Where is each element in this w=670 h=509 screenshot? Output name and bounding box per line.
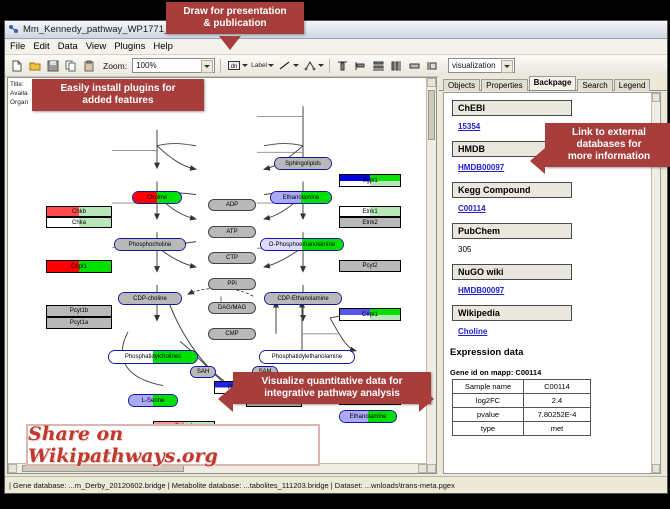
callout-visualize-line2: integrative pathway analysis bbox=[239, 388, 425, 400]
callout-plugins: Easily install plugins for added feature… bbox=[32, 79, 204, 111]
node-label: Phosphocholine bbox=[129, 242, 172, 248]
node-etnk2[interactable]: Etnk2 bbox=[339, 217, 401, 228]
node-sphingolipids[interactable]: Sphingolipids bbox=[274, 157, 332, 170]
chebi-link[interactable]: 15354 bbox=[458, 122, 480, 131]
row-value: 7.80252E-4 bbox=[524, 408, 591, 422]
distribute-vertical-icon[interactable] bbox=[371, 58, 386, 73]
line-icon[interactable] bbox=[277, 58, 292, 73]
node-label: CMP bbox=[225, 331, 238, 337]
status-bar: | Gene database: ...m_Derby_20120602.bri… bbox=[5, 476, 667, 493]
tab-properties[interactable]: Properties bbox=[481, 79, 527, 91]
node-label: DAG/MAG bbox=[218, 305, 246, 311]
callout-visualize-line1: Visualize quantitative data for bbox=[239, 376, 425, 388]
callout-draw-line1: Draw for presentation bbox=[172, 6, 298, 18]
zoom-label: Zoom: bbox=[103, 61, 127, 71]
datanode-icon[interactable]: dn bbox=[226, 58, 241, 73]
shape-tool[interactable] bbox=[302, 58, 324, 73]
node-choline-top[interactable]: Choline bbox=[132, 191, 182, 204]
callout-plugins-arrow bbox=[84, 77, 106, 78]
pathway-info-labels: Title: Availa Organ bbox=[10, 80, 28, 107]
node-label: SAH bbox=[197, 369, 209, 375]
zoom-value: 100% bbox=[136, 61, 156, 70]
node-etnk1[interactable]: Etnk1 bbox=[339, 206, 401, 217]
status-text: | Gene database: ...m_Derby_20120602.bri… bbox=[9, 481, 455, 490]
align-left-icon[interactable] bbox=[353, 58, 368, 73]
node-label: Etnk2 bbox=[362, 220, 377, 226]
callout-visualize-arrow-left bbox=[218, 386, 233, 412]
node-label: Choline bbox=[147, 195, 167, 201]
visualization-value: visualization bbox=[452, 61, 496, 70]
node-label: ADP bbox=[226, 202, 238, 208]
node-label: Etnk1 bbox=[362, 209, 377, 215]
callout-draw-line2: & publication bbox=[172, 18, 298, 30]
row-key: log2FC bbox=[453, 394, 524, 408]
node-label: Pcyt1b bbox=[70, 308, 88, 314]
node-ethanolamine-right[interactable]: Ethanolamine bbox=[339, 410, 397, 423]
section-heading: ChEBI bbox=[452, 100, 572, 116]
section-kegg-compound: Kegg Compound C00114 bbox=[452, 182, 660, 216]
node-adp[interactable]: ADP bbox=[208, 199, 256, 211]
same-width-icon[interactable] bbox=[407, 58, 422, 73]
node-label: O-Phosphoethanolamine bbox=[269, 242, 335, 248]
canvas-vertical-scrollbar[interactable] bbox=[426, 78, 436, 473]
menu-item-data[interactable]: Data bbox=[58, 41, 78, 52]
node-label: PPi bbox=[227, 281, 236, 287]
node-label: Phosphatidylethanolamine bbox=[272, 354, 342, 360]
row-value: C00114 bbox=[524, 380, 591, 394]
svg-text:dn: dn bbox=[230, 64, 237, 70]
menu-bar: File Edit Data View Plugins Help bbox=[5, 39, 667, 55]
node-cdp-choline[interactable]: CDP-choline bbox=[118, 292, 182, 305]
copy-icon[interactable] bbox=[63, 58, 78, 73]
paste-icon[interactable] bbox=[81, 58, 96, 73]
node-pcyt2[interactable]: Pcyt2 bbox=[339, 260, 401, 272]
node-label: CDP-Ethanolamine bbox=[277, 296, 328, 302]
node-ctp[interactable]: CTP bbox=[208, 252, 256, 264]
node-label: Ethanolamine bbox=[283, 195, 320, 201]
align-top-icon[interactable] bbox=[335, 58, 350, 73]
table-row: log2FC 2.4 bbox=[453, 394, 591, 408]
node-label: L-Serine bbox=[142, 398, 165, 404]
section-heading: Kegg Compound bbox=[452, 182, 572, 198]
node-label: CTP bbox=[226, 255, 238, 261]
node-phosphatidylcholines[interactable]: Phosphatidylcholines bbox=[108, 350, 198, 364]
node-chpt1[interactable]: Chpt1 bbox=[46, 260, 112, 273]
node-label: Chpt1 bbox=[71, 264, 87, 270]
section-heading: Wikipedia bbox=[452, 305, 572, 321]
tab-search[interactable]: Search bbox=[577, 79, 612, 91]
side-panel-tabs: Objects Properties Backpage Search Legen… bbox=[439, 75, 667, 91]
visualization-combobox[interactable]: visualization bbox=[448, 58, 515, 73]
callout-share: Share on Wikipathways.org bbox=[26, 424, 320, 466]
scroll-down-arrow[interactable] bbox=[427, 464, 436, 473]
table-row: pvalue 7.80252E-4 bbox=[453, 408, 591, 422]
menu-item-help[interactable]: Help bbox=[153, 41, 173, 52]
line-tool[interactable] bbox=[277, 58, 299, 73]
node-label: Chkb bbox=[72, 209, 86, 215]
menu-item-file[interactable]: File bbox=[10, 41, 25, 52]
section-nugo-wiki: NuGO wiki HMDB00097 bbox=[452, 264, 660, 298]
node-label: Sphingolipids bbox=[285, 161, 321, 167]
node-label: Pcyt1a bbox=[70, 320, 88, 326]
hmdb-link[interactable]: HMDB00097 bbox=[458, 163, 504, 172]
pubchem-value: 305 bbox=[458, 245, 471, 254]
node-label: Pcyt2 bbox=[362, 263, 377, 269]
info-organism-label: Organ bbox=[10, 98, 28, 107]
node-label: Sgpl1 bbox=[362, 178, 377, 184]
node-label: Ethanolamine bbox=[350, 414, 387, 420]
info-availability-label: Availa bbox=[10, 89, 28, 98]
callout-links-line2: databases for bbox=[551, 139, 667, 151]
row-value: met bbox=[524, 422, 591, 436]
toolbar-separator bbox=[220, 59, 221, 73]
table-row: type met bbox=[453, 422, 591, 436]
node-chka[interactable]: Chka bbox=[46, 217, 112, 228]
section-pubchem: PubChem 305 bbox=[452, 223, 660, 257]
open-file-icon[interactable] bbox=[27, 58, 42, 73]
callout-links: Link to external databases for more info… bbox=[545, 123, 670, 167]
label-tool-text: Label bbox=[251, 62, 267, 69]
new-file-icon[interactable] bbox=[9, 58, 24, 73]
node-phosphocholine[interactable]: Phosphocholine bbox=[114, 238, 186, 251]
menu-item-edit[interactable]: Edit bbox=[33, 41, 49, 52]
pathway-canvas[interactable]: Title: Availa Organ bbox=[7, 77, 437, 474]
scroll-up-arrow[interactable] bbox=[427, 78, 436, 87]
node-cept1[interactable]: Cept1 bbox=[339, 308, 401, 321]
nugo-link[interactable]: HMDB00097 bbox=[458, 286, 504, 295]
node-ppi[interactable]: PPi bbox=[208, 278, 256, 290]
callout-draw: Draw for presentation & publication bbox=[166, 2, 304, 34]
callout-links-arrow bbox=[530, 148, 545, 174]
node-sgpl1[interactable]: Sgpl1 bbox=[339, 174, 401, 187]
expression-data-heading: Expression data bbox=[450, 347, 660, 358]
node-label: Chka bbox=[72, 220, 86, 226]
section-wikipedia: Wikipedia Choline bbox=[452, 305, 660, 339]
zoom-combobox[interactable]: 100% bbox=[132, 58, 215, 73]
row-key: pvalue bbox=[453, 408, 524, 422]
window-title-bar: Mm_Kennedy_pathway_WP1771_45176.gpml bbox=[5, 21, 667, 39]
info-title-label: Title: bbox=[10, 80, 28, 89]
toolbar-separator bbox=[329, 59, 330, 73]
callout-links-line3: more information bbox=[551, 151, 667, 163]
row-key: Sample name bbox=[453, 380, 524, 394]
node-label: Phosphatidylcholines bbox=[125, 354, 181, 360]
node-pcyt1a[interactable]: Pcyt1a bbox=[46, 317, 112, 329]
callout-visualize-arrow-right bbox=[419, 386, 434, 412]
wikipedia-link[interactable]: Choline bbox=[458, 327, 487, 336]
node-phosphatidylethanolamine[interactable]: Phosphatidylethanolamine bbox=[259, 350, 355, 364]
row-value: 2.4 bbox=[524, 394, 591, 408]
node-dag-mag[interactable]: DAG/MAG bbox=[208, 302, 256, 314]
menu-item-plugins[interactable]: Plugins bbox=[114, 41, 145, 52]
node-ethanolamine-top[interactable]: Ethanolamine bbox=[270, 191, 332, 204]
pathvisio-window: Mm_Kennedy_pathway_WP1771_45176.gpml Fil… bbox=[4, 20, 668, 494]
scroll-thumb[interactable] bbox=[428, 90, 435, 140]
tab-legend[interactable]: Legend bbox=[614, 79, 651, 91]
datanode-tool[interactable]: dn bbox=[226, 58, 248, 73]
tool-bar: Zoom: 100% dn Label bbox=[5, 55, 667, 77]
callout-plugins-line1: Easily install plugins for bbox=[38, 83, 198, 95]
node-o-phosphoethanolamine[interactable]: O-Phosphoethanolamine bbox=[260, 238, 344, 251]
node-pcyt1b[interactable]: Pcyt1b bbox=[46, 305, 112, 317]
table-row: Sample name C00114 bbox=[453, 380, 591, 394]
callout-share-text: Share on Wikipathways.org bbox=[28, 423, 318, 467]
menu-item-view[interactable]: View bbox=[86, 41, 106, 52]
row-key: type bbox=[453, 422, 524, 436]
shape-icon[interactable] bbox=[302, 58, 317, 73]
node-l-serine-left[interactable]: L-Serine bbox=[128, 394, 178, 407]
node-label: Cept1 bbox=[362, 312, 378, 318]
scroll-left-arrow[interactable] bbox=[8, 464, 17, 473]
section-heading: PubChem bbox=[452, 223, 572, 239]
node-label: ATP bbox=[226, 229, 237, 235]
screenshot-root: Mm_Kennedy_pathway_WP1771_45176.gpml Fil… bbox=[0, 0, 670, 509]
section-heading: NuGO wiki bbox=[452, 264, 572, 280]
same-height-icon[interactable] bbox=[425, 58, 440, 73]
node-chkb[interactable]: Chkb bbox=[46, 206, 112, 217]
callout-visualize: Visualize quantitative data for integrat… bbox=[233, 372, 431, 404]
tab-objects[interactable]: Objects bbox=[443, 79, 480, 91]
gene-id-line: Gene id on mapp: C00114 bbox=[450, 368, 660, 377]
callout-draw-arrow bbox=[219, 36, 241, 50]
node-sah[interactable]: SAH bbox=[190, 366, 216, 378]
node-cdp-ethanolamine[interactable]: CDP-Ethanolamine bbox=[264, 292, 342, 305]
node-atp[interactable]: ATP bbox=[208, 226, 256, 238]
scroll-right-arrow[interactable] bbox=[418, 464, 427, 473]
callout-links-line1: Link to external bbox=[551, 127, 667, 139]
scroll-up-arrow[interactable] bbox=[652, 93, 660, 102]
callout-plugins-line2: added features bbox=[38, 95, 198, 107]
zoom-dropdown-arrow[interactable] bbox=[201, 60, 213, 73]
expression-table: Sample name C00114 log2FC 2.4 pvalue 7.8… bbox=[452, 379, 591, 436]
distribute-horizontal-icon[interactable] bbox=[389, 58, 404, 73]
kegg-link[interactable]: C00114 bbox=[458, 204, 486, 213]
visualization-dropdown-arrow[interactable] bbox=[501, 60, 513, 73]
save-file-icon[interactable] bbox=[45, 58, 60, 73]
label-tool[interactable]: Label bbox=[251, 62, 274, 69]
node-cmp[interactable]: CMP bbox=[208, 328, 256, 340]
tab-backpage[interactable]: Backpage bbox=[529, 76, 577, 90]
app-icon bbox=[8, 24, 19, 35]
node-label: CDP-choline bbox=[133, 296, 167, 302]
scroll-down-arrow[interactable] bbox=[652, 464, 660, 473]
